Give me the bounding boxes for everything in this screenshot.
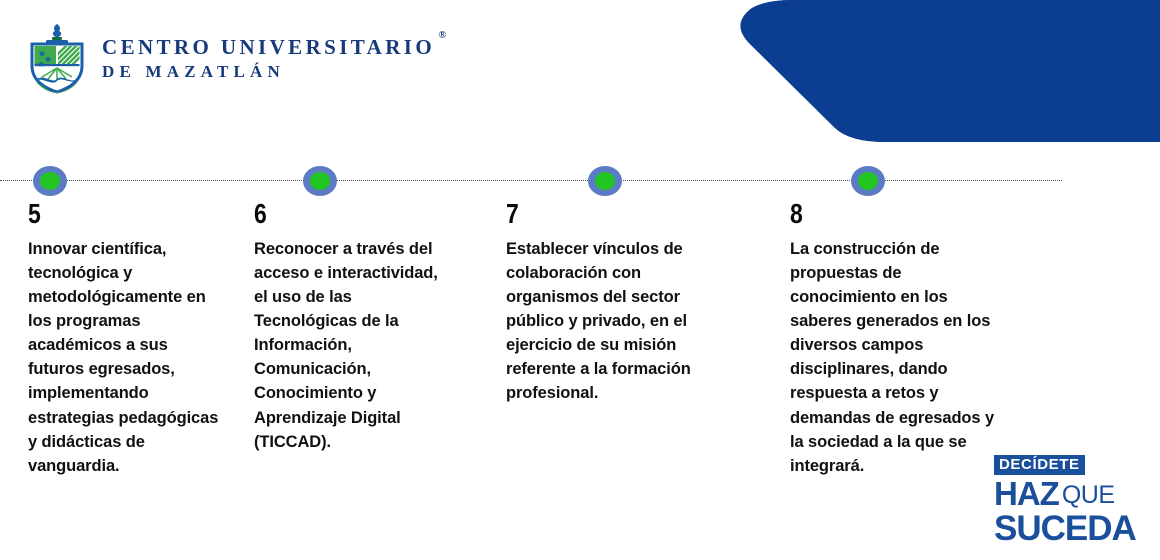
campaign-line-haz-que: HAZQUE — [994, 477, 1146, 510]
campaign-badge-row: DECÍDETE — [994, 455, 1146, 477]
timeline-item-text: Innovar científica, tecnológica y metodo… — [28, 237, 228, 478]
timeline-marker-6[interactable] — [303, 166, 337, 196]
timeline-item-5: 5 Innovar científica, tecnológica y meto… — [28, 200, 228, 478]
brand-logo: CENTRO UNIVERSITARIO ® DE MAZATLÁN — [26, 22, 435, 94]
timeline-item-number: 5 — [28, 200, 192, 228]
brand-line-1: CENTRO UNIVERSITARIO ® — [102, 36, 435, 58]
timeline-item-8: 8 La construcción de propuestas de conoc… — [790, 200, 995, 478]
timeline-item-7: 7 Establecer vínculos de colaboración co… — [506, 200, 736, 406]
timeline-item-number: 6 — [254, 200, 418, 228]
timeline-item-6: 6 Reconocer a través del acceso e intera… — [254, 200, 454, 454]
blue-corner-wedge — [700, 0, 1160, 142]
brand-line-2: DE MAZATLÁN — [102, 59, 435, 85]
brand-wordmark: CENTRO UNIVERSITARIO ® DE MAZATLÁN — [102, 32, 435, 85]
timeline-item-text: Reconocer a través del acceso e interact… — [254, 237, 454, 454]
brand-line-1-text: CENTRO UNIVERSITARIO — [102, 35, 435, 59]
timeline-item-text: Establecer vínculos de colaboración con … — [506, 237, 736, 406]
slide-canvas: CENTRO UNIVERSITARIO ® DE MAZATLÁN 5 Inn… — [0, 0, 1160, 560]
campaign-word-que: QUE — [1062, 481, 1115, 509]
campaign-lockup: DECÍDETE HAZQUE SUCEDA — [994, 455, 1146, 546]
campaign-word-haz: HAZ — [994, 475, 1059, 512]
campaign-word-suceda: SUCEDA — [994, 511, 1146, 546]
campaign-badge: DECÍDETE — [994, 455, 1085, 475]
timeline-marker-5[interactable] — [33, 166, 67, 196]
timeline-rail — [0, 180, 1062, 181]
registered-mark-icon: ® — [439, 31, 446, 42]
timeline-item-number: 8 — [790, 200, 958, 228]
timeline-marker-8[interactable] — [851, 166, 885, 196]
timeline-item-text: La construcción de propuestas de conocim… — [790, 237, 995, 478]
timeline-marker-7[interactable] — [588, 166, 622, 196]
timeline-item-number: 7 — [506, 200, 695, 228]
university-shield-torch-icon — [26, 22, 88, 94]
